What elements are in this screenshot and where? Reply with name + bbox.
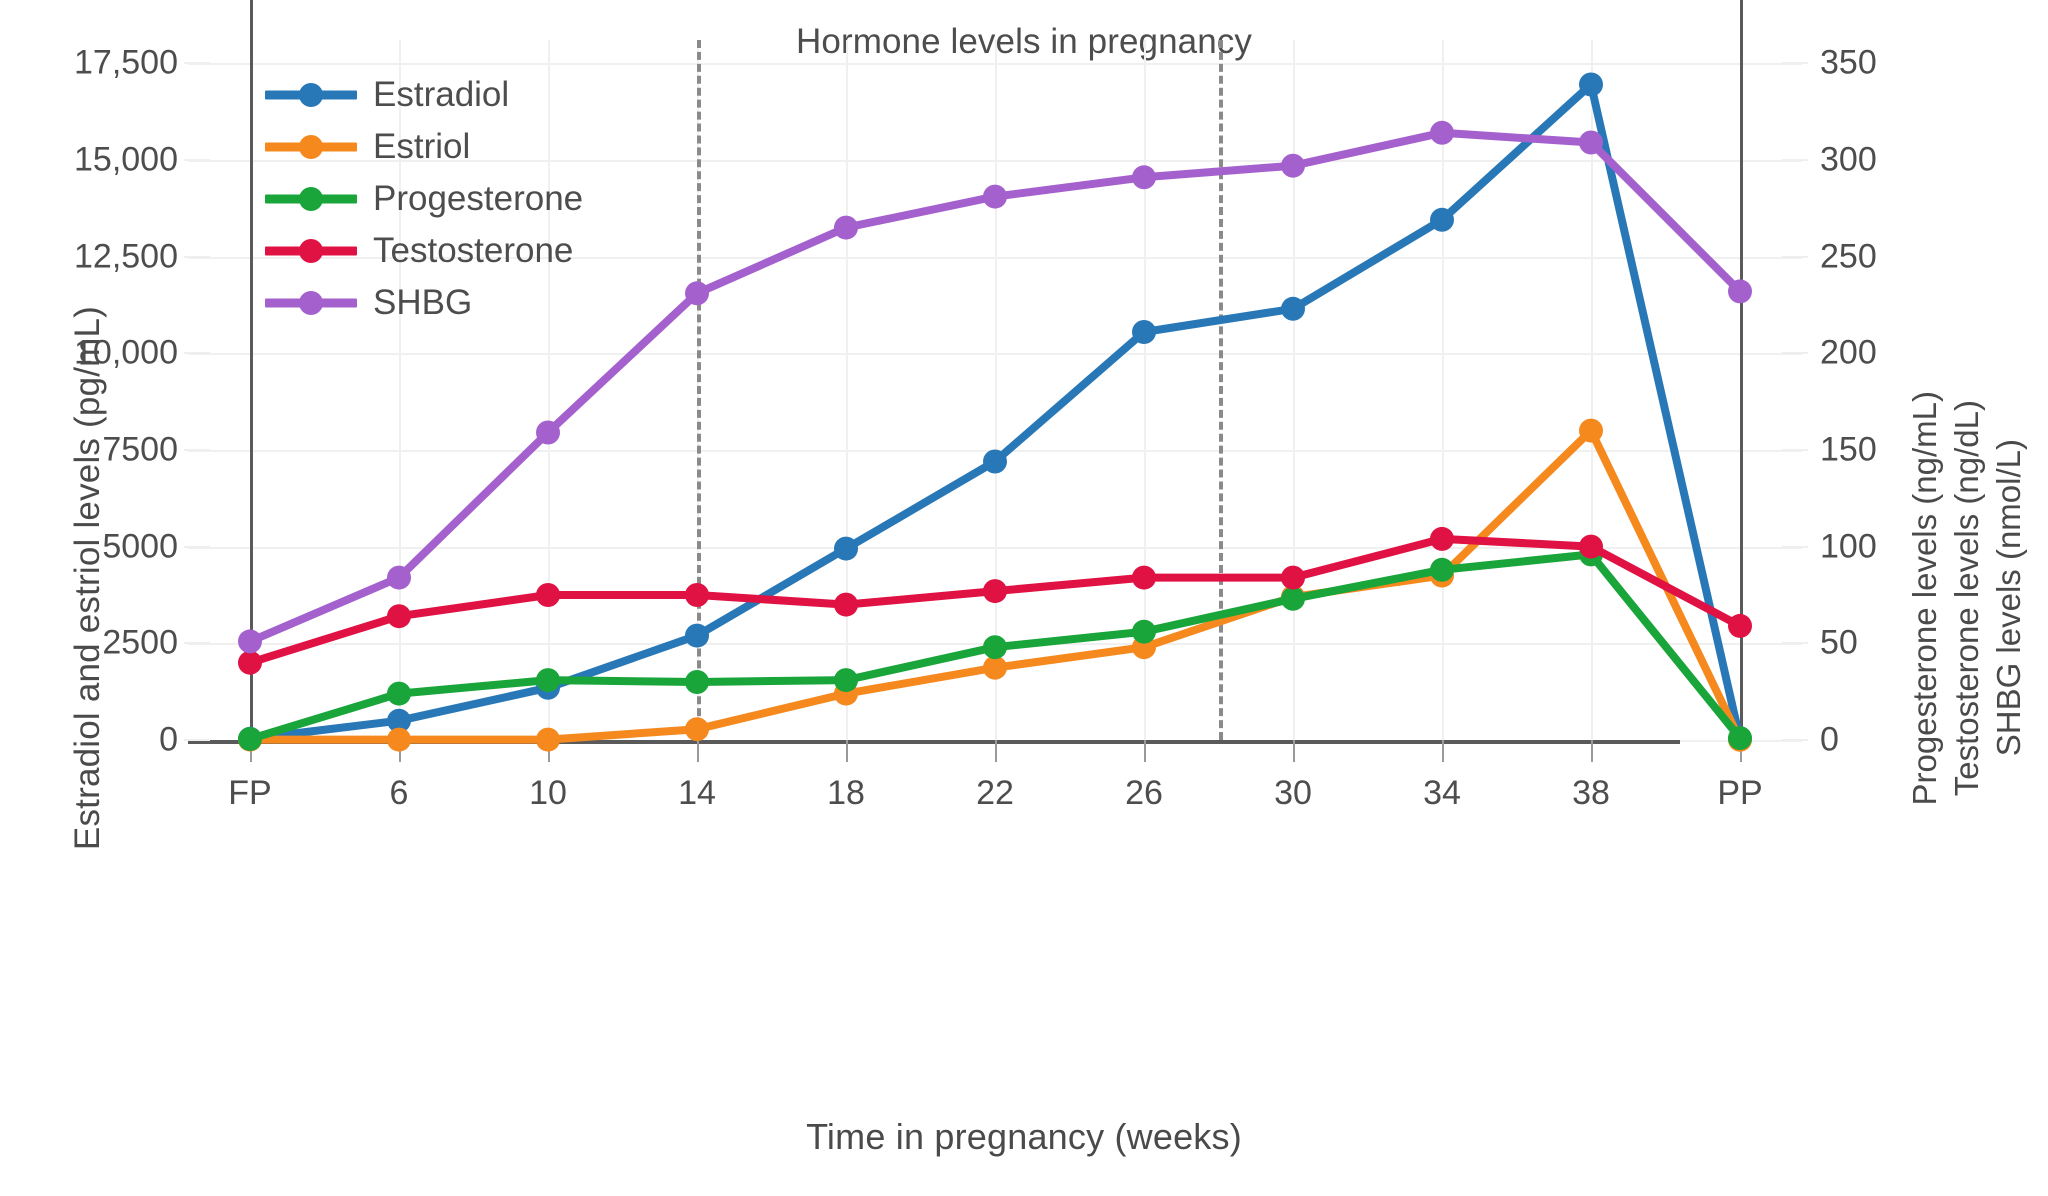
y-axis-left-tick-label: 12,500	[74, 237, 178, 276]
data-point-testosterone	[834, 593, 858, 617]
x-axis-tick-label: 30	[1274, 774, 1312, 813]
legend-label: SHBG	[373, 283, 472, 323]
data-point-estriol	[1579, 419, 1603, 443]
x-tick-mark	[1293, 740, 1295, 762]
data-point-shbg	[685, 281, 709, 305]
data-point-shbg	[834, 216, 858, 240]
legend-item-estriol[interactable]: Estriol	[265, 127, 583, 167]
y-tick-mark-right	[1782, 159, 1808, 161]
y-axis-right-tick-label: 50	[1820, 624, 1858, 663]
data-point-shbg	[1281, 154, 1305, 178]
legend-marker-icon	[265, 179, 357, 219]
x-tick-mark	[846, 740, 848, 762]
data-point-testosterone	[1281, 566, 1305, 590]
y-tick-mark-left	[184, 62, 210, 64]
data-point-estradiol	[1281, 297, 1305, 321]
data-point-shbg	[536, 421, 560, 445]
data-point-testosterone	[387, 604, 411, 628]
x-axis-tick-label: 10	[529, 774, 567, 813]
data-point-progesterone	[536, 668, 560, 692]
y-tick-mark-right	[1782, 642, 1808, 644]
y-tick-mark-right	[1782, 352, 1808, 354]
data-point-shbg	[983, 185, 1007, 209]
x-tick-mark	[1144, 740, 1146, 762]
x-axis-tick-label: FP	[228, 774, 271, 813]
y-axis-left-tick-label: 5000	[102, 527, 178, 566]
data-point-estriol	[983, 656, 1007, 680]
data-point-testosterone	[238, 651, 262, 675]
y-tick-mark-right	[1782, 256, 1808, 258]
legend-label: Progesterone	[373, 179, 583, 219]
y-axis-right-title-testosterone: Testosterone levels (ng/dL)	[1948, 400, 1986, 796]
y-tick-mark-left	[184, 256, 210, 258]
y-tick-mark-right	[1782, 449, 1808, 451]
data-point-testosterone	[1430, 527, 1454, 551]
x-tick-mark	[1442, 740, 1444, 762]
y-axis-left-tick-label: 0	[159, 721, 178, 760]
data-point-estriol	[536, 728, 560, 752]
y-tick-mark-right	[1782, 62, 1808, 64]
data-point-estriol	[387, 728, 411, 752]
y-axis-right-tick-label: 350	[1820, 44, 1877, 83]
legend-item-progesterone[interactable]: Progesterone	[265, 179, 583, 219]
data-point-progesterone	[387, 682, 411, 706]
x-axis-tick-label: 34	[1423, 774, 1461, 813]
y-axis-right-tick-label: 100	[1820, 527, 1877, 566]
y-axis-right-tick-label: 300	[1820, 140, 1877, 179]
y-tick-mark-left	[184, 159, 210, 161]
data-point-shbg	[238, 629, 262, 653]
data-point-progesterone	[1430, 558, 1454, 582]
chart-legend: EstradiolEstriolProgesteroneTestosterone…	[265, 75, 583, 323]
data-point-progesterone	[1728, 726, 1752, 750]
data-point-testosterone	[1728, 614, 1752, 638]
legend-marker-icon	[265, 127, 357, 167]
x-axis-tick-label: 26	[1125, 774, 1163, 813]
y-axis-left-tick-label: 17,500	[74, 44, 178, 83]
y-tick-mark-left	[184, 739, 210, 741]
y-tick-mark-left	[184, 642, 210, 644]
data-point-estriol	[685, 717, 709, 741]
data-point-progesterone	[238, 727, 262, 751]
legend-label: Testosterone	[373, 231, 573, 271]
data-point-shbg	[1132, 165, 1156, 189]
x-axis-tick-label: PP	[1717, 774, 1762, 813]
y-axis-right-tick-label: 150	[1820, 430, 1877, 469]
chart-figure: Hormone levels in pregnancy Estradiol an…	[0, 0, 2048, 1196]
y-axis-right-tick-label: 0	[1820, 721, 1839, 760]
y-axis-left-tick-label: 7500	[102, 430, 178, 469]
y-axis-right-tick-label: 200	[1820, 334, 1877, 373]
x-axis-title: Time in pregnancy (weeks)	[0, 1116, 2048, 1158]
legend-marker-icon	[265, 283, 357, 323]
data-point-testosterone	[685, 583, 709, 607]
data-point-estradiol	[685, 624, 709, 648]
data-point-testosterone	[983, 579, 1007, 603]
x-tick-mark	[697, 740, 699, 762]
data-point-estradiol	[1132, 320, 1156, 344]
data-point-estradiol	[834, 537, 858, 561]
data-point-testosterone	[1579, 535, 1603, 559]
legend-label: Estriol	[373, 127, 470, 167]
x-axis-tick-label: 18	[827, 774, 865, 813]
x-axis-tick-label: 14	[678, 774, 716, 813]
x-axis-tick-label: 6	[390, 774, 409, 813]
y-tick-mark-left	[184, 546, 210, 548]
data-point-progesterone	[1281, 587, 1305, 611]
data-point-shbg	[1579, 131, 1603, 155]
legend-item-estradiol[interactable]: Estradiol	[265, 75, 583, 115]
legend-label: Estradiol	[373, 75, 509, 115]
y-axis-left-tick-label: 10,000	[74, 334, 178, 373]
legend-marker-icon	[265, 75, 357, 115]
legend-item-testosterone[interactable]: Testosterone	[265, 231, 583, 271]
x-tick-mark	[995, 740, 997, 762]
x-axis-tick-label: 22	[976, 774, 1014, 813]
data-point-progesterone	[685, 670, 709, 694]
y-axis-left-tick-label: 15,000	[74, 140, 178, 179]
y-tick-mark-left	[184, 449, 210, 451]
y-tick-mark-right	[1782, 546, 1808, 548]
y-tick-mark-right	[1782, 739, 1808, 741]
data-point-progesterone	[1132, 620, 1156, 644]
data-point-progesterone	[983, 635, 1007, 659]
data-point-shbg	[1728, 279, 1752, 303]
y-axis-right-title-progesterone: Progesterone levels (ng/mL)	[1906, 391, 1944, 806]
legend-item-shbg[interactable]: SHBG	[265, 283, 583, 323]
data-point-estradiol	[1430, 208, 1454, 232]
y-tick-mark-left	[184, 352, 210, 354]
data-point-shbg	[387, 566, 411, 590]
y-axis-right-titles: Progesterone levels (ng/mL) Testosterone…	[1904, 0, 2030, 1196]
y-axis-right-tick-label: 250	[1820, 237, 1877, 276]
y-axis-left-tick-label: 2500	[102, 624, 178, 663]
data-point-estradiol	[983, 450, 1007, 474]
x-tick-mark	[1591, 740, 1593, 762]
data-point-estradiol	[1579, 73, 1603, 97]
legend-marker-icon	[265, 231, 357, 271]
data-point-progesterone	[834, 668, 858, 692]
data-point-testosterone	[1132, 566, 1156, 590]
y-axis-right-title-shbg: SHBG levels (nmol/L)	[1990, 439, 2028, 756]
x-axis-tick-label: 38	[1572, 774, 1610, 813]
data-point-testosterone	[536, 583, 560, 607]
data-point-shbg	[1430, 121, 1454, 145]
